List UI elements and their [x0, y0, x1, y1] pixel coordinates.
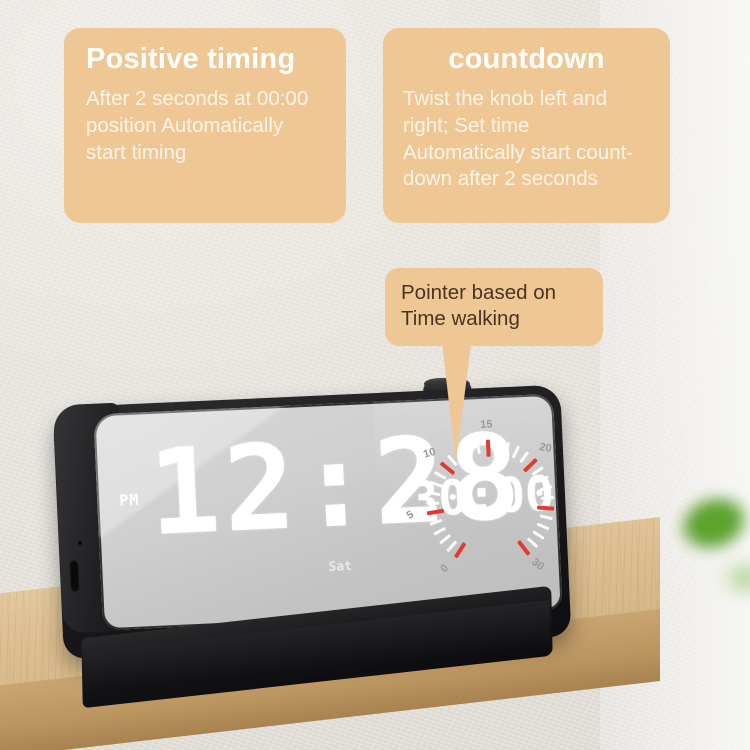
product-scene: PM 12:28 Sat 30:00 051015202530 Positive…	[0, 0, 750, 750]
meridiem-indicator: PM	[119, 491, 140, 510]
day-of-week-label: Sat	[328, 559, 352, 575]
usb-c-port	[69, 560, 79, 592]
callout-countdown: countdown Twist the knob left and right;…	[383, 28, 670, 223]
callout-body: After 2 seconds at 00:00 position Automa…	[86, 86, 326, 166]
dial-label-30: 30	[529, 556, 546, 573]
dial-label-0: 0	[439, 562, 452, 575]
callout-pointer: Pointer based on Time walking	[385, 268, 603, 346]
callout-title: Positive timing	[86, 44, 326, 74]
callout-title: countdown	[403, 44, 650, 74]
dial-label-15: 15	[480, 418, 493, 431]
callout-positive-timing: Positive timing After 2 seconds at 00:00…	[64, 28, 346, 223]
dial-label-20: 20	[539, 441, 553, 455]
callout-body: Pointer based on Time walking	[401, 280, 587, 332]
countdown-dial: 30:00 051015202530	[412, 409, 563, 598]
callout-body: Twist the knob left and right; Set time …	[403, 86, 650, 193]
microphone-hole	[78, 541, 82, 545]
